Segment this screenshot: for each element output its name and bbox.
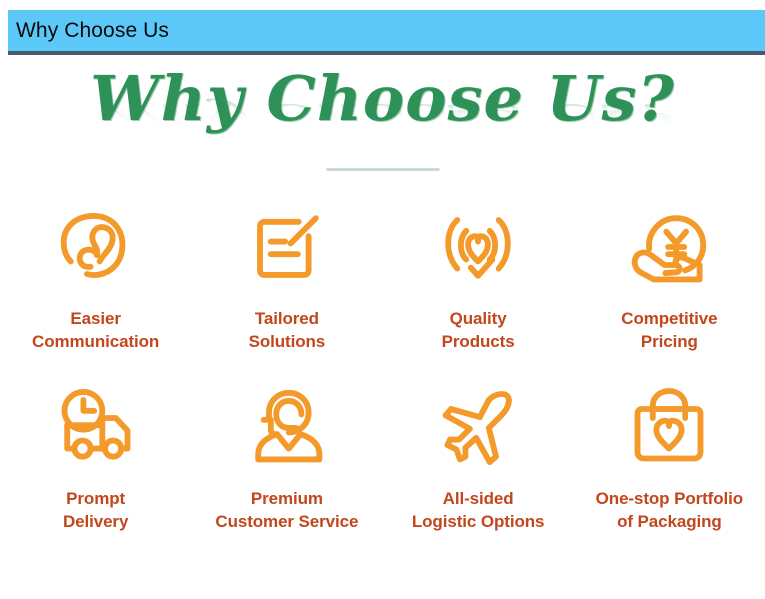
feature-item-all-sided-logistic-options[interactable]: All-sided Logistic Options xyxy=(383,375,574,555)
airplane-icon xyxy=(430,379,526,475)
feature-item-premium-customer-service[interactable]: Premium Customer Service xyxy=(191,375,382,555)
feature-item-prompt-delivery[interactable]: Prompt Delivery xyxy=(0,375,191,555)
feature-item-quality-products[interactable]: Quality Products xyxy=(383,195,574,375)
feature-label: Competitive Pricing xyxy=(621,307,717,353)
feature-label-line2: Customer Service xyxy=(215,510,358,533)
feature-item-competitive-pricing[interactable]: Competitive Pricing xyxy=(574,195,765,375)
feature-label: One-stop Portfolio of Packaging xyxy=(596,487,743,533)
feature-label-line1: Premium xyxy=(251,489,323,508)
feature-label-line1: Competitive xyxy=(621,309,717,328)
feature-item-one-stop-portfolio[interactable]: One-stop Portfolio of Packaging xyxy=(574,375,765,555)
feature-label-line2: Communication xyxy=(32,330,159,353)
headset-agent-icon xyxy=(239,379,335,475)
document-pencil-icon xyxy=(239,199,335,295)
feature-label-line2: Solutions xyxy=(249,330,326,353)
feature-label: Easier Communication xyxy=(32,307,159,353)
hero-title: Why Choose Us? xyxy=(0,64,765,134)
feature-grid: Easier Communication Tailored Solutions xyxy=(0,195,765,555)
feature-item-easier-communication[interactable]: Easier Communication xyxy=(0,195,191,375)
truck-clock-icon xyxy=(48,379,144,475)
feature-label-line2: Delivery xyxy=(63,510,128,533)
feature-label: All-sided Logistic Options xyxy=(412,487,545,533)
feature-label: Quality Products xyxy=(442,307,515,353)
ear-listening-icon xyxy=(48,199,144,295)
page-content: Why Choose Us? Why Choose Us? Easier Com… xyxy=(0,58,765,599)
feature-label-line2: Pricing xyxy=(621,330,717,353)
feature-label-line1: One-stop Portfolio xyxy=(596,489,743,508)
feature-item-tailored-solutions[interactable]: Tailored Solutions xyxy=(191,195,382,375)
hand-yen-coin-icon xyxy=(621,199,717,295)
window-header-bar: Why Choose Us xyxy=(8,10,765,55)
hero-divider xyxy=(326,168,439,171)
feature-label: Prompt Delivery xyxy=(63,487,128,533)
feature-label: Premium Customer Service xyxy=(215,487,358,533)
feature-label-line1: All-sided xyxy=(443,489,514,508)
page-title: Why Choose Us xyxy=(16,19,169,43)
feature-label-line1: Quality xyxy=(450,309,507,328)
feature-label-line1: Prompt xyxy=(66,489,125,508)
feature-label-line2: Logistic Options xyxy=(412,510,545,533)
feature-label-line1: Tailored xyxy=(255,309,319,328)
shopping-bag-heart-icon xyxy=(621,379,717,475)
feature-label: Tailored Solutions xyxy=(249,307,326,353)
feature-label-line2: Products xyxy=(442,330,515,353)
feature-label-line1: Easier xyxy=(70,309,120,328)
heart-soundwave-check-icon xyxy=(430,199,526,295)
hero-section: Why Choose Us? Why Choose Us? xyxy=(0,64,765,172)
feature-label-line2: of Packaging xyxy=(596,510,743,533)
